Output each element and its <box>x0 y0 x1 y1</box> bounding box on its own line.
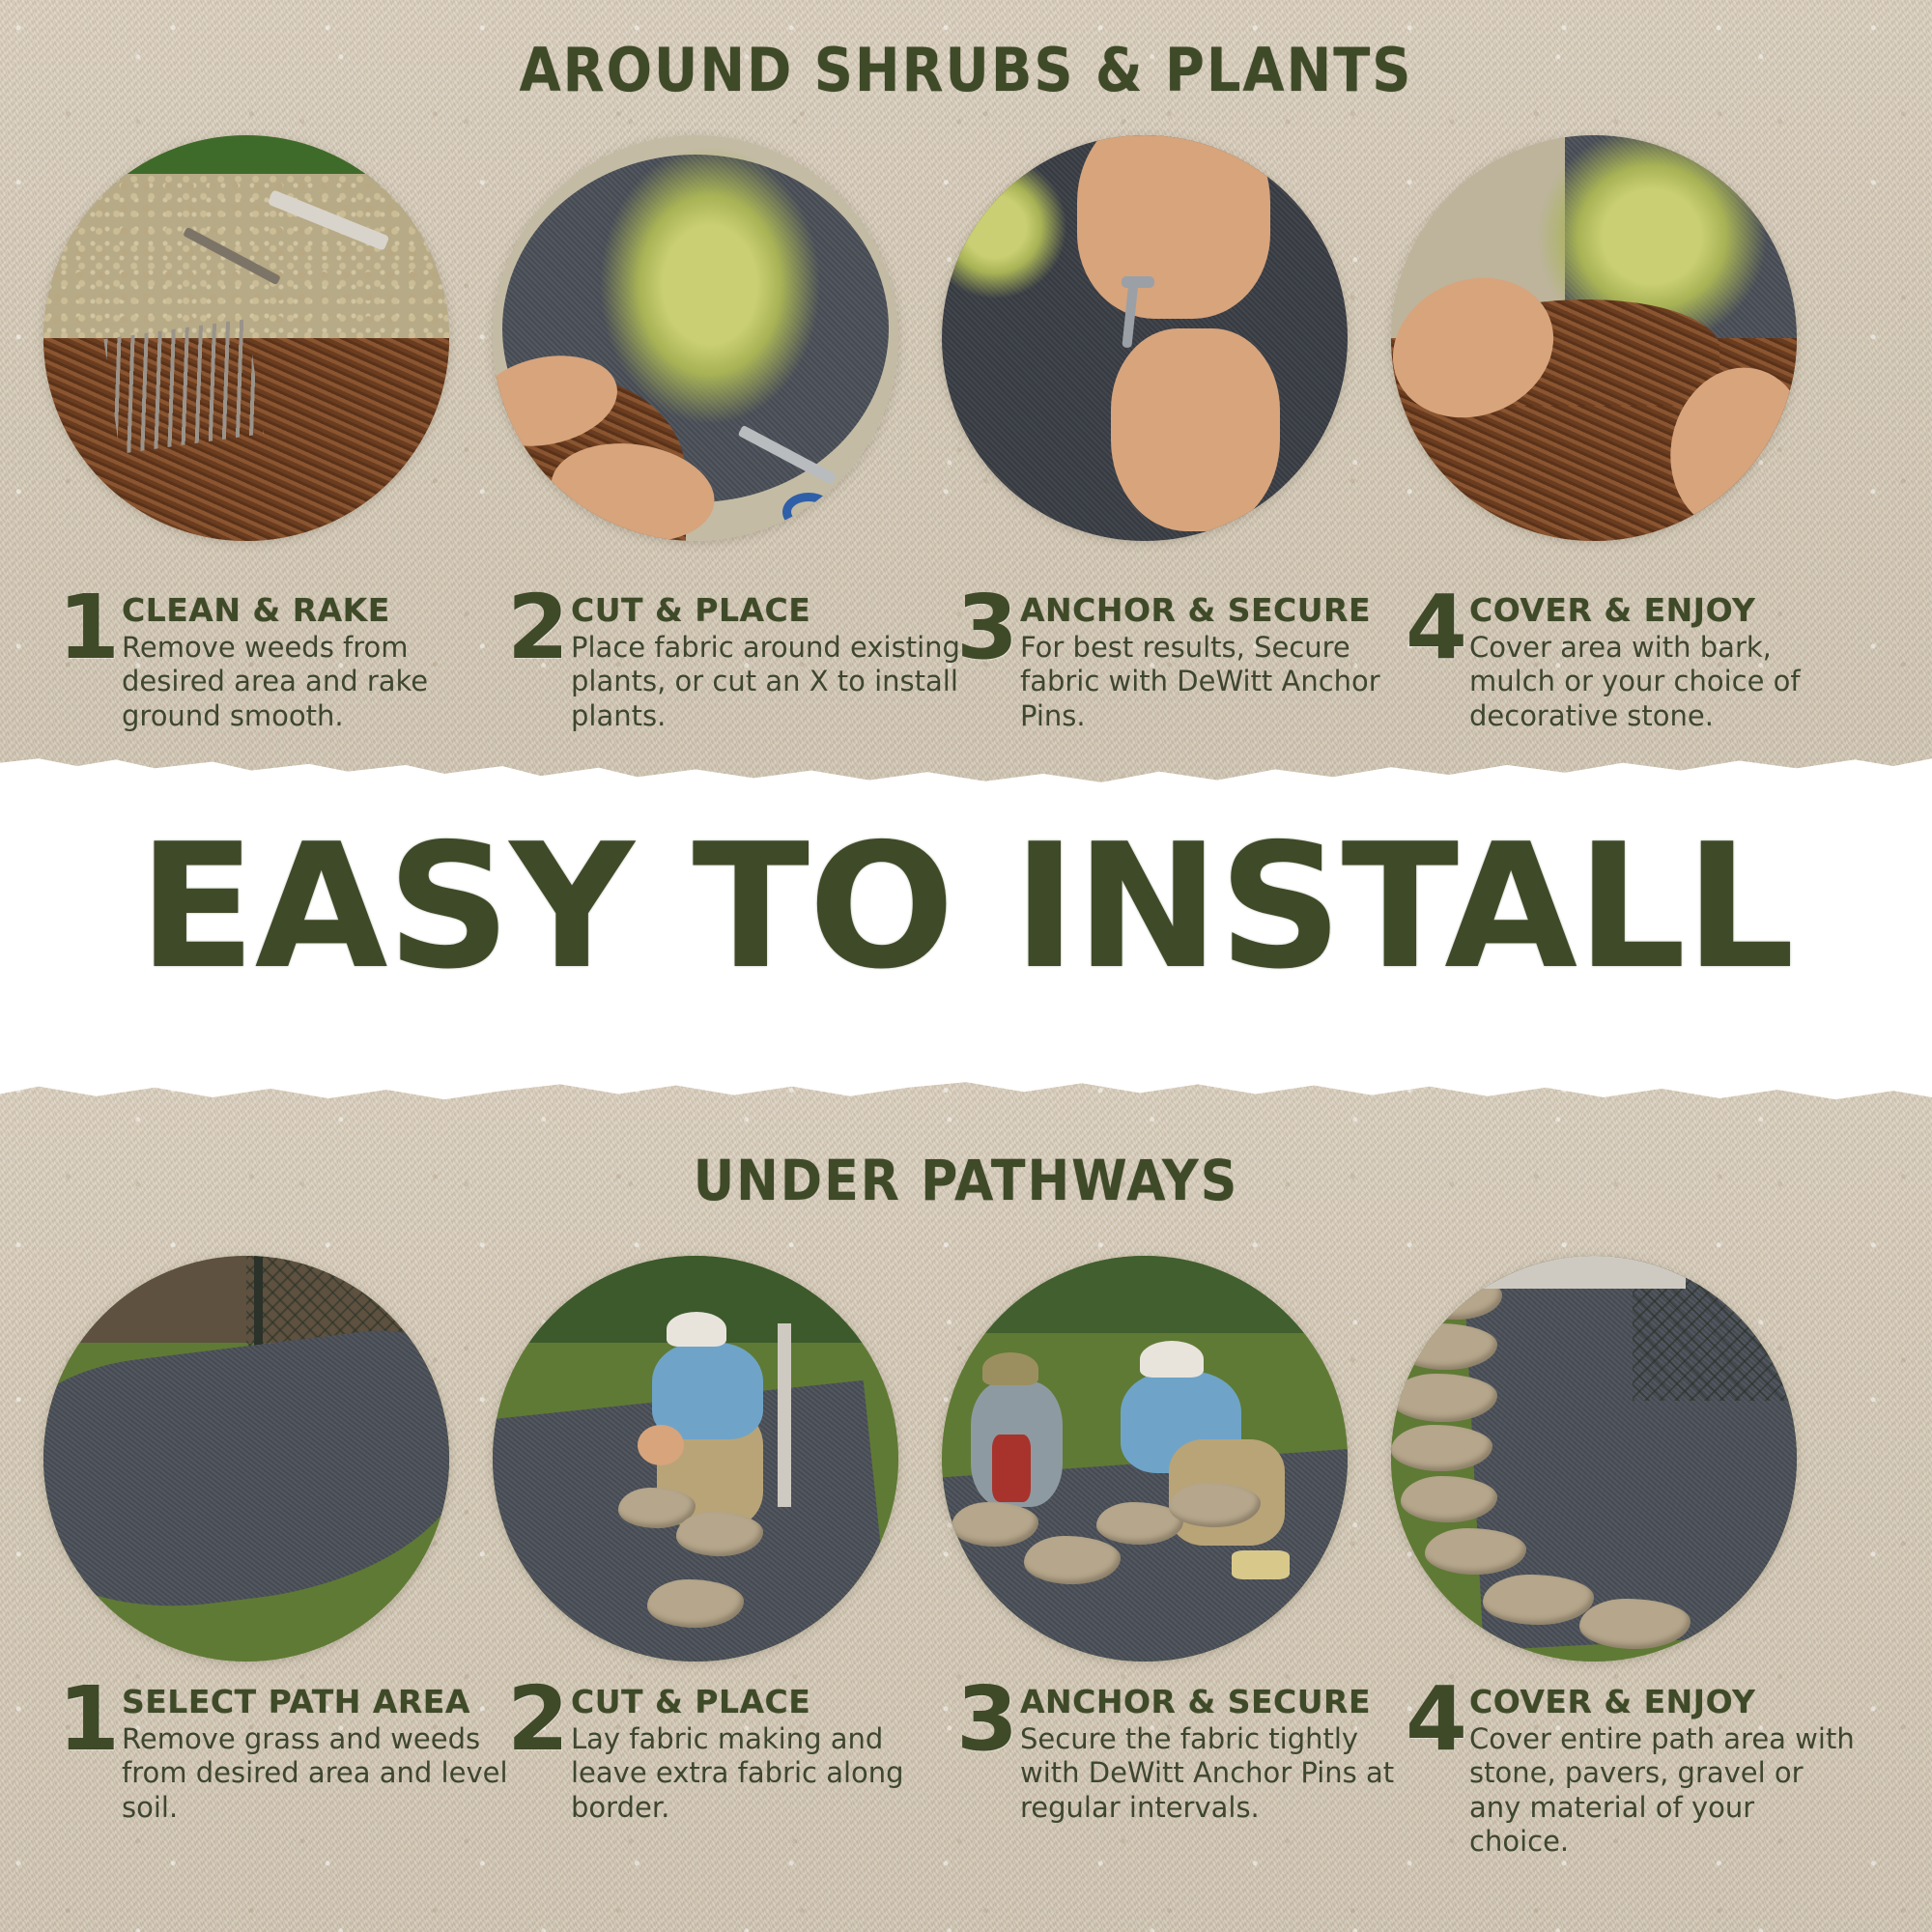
step-title: COVER & ENJOY <box>1469 1683 1860 1720</box>
step-number: 1 <box>58 1675 120 1764</box>
main-headline: EASY TO INSTALL <box>0 821 1932 993</box>
step-text: For best results, Secure fabric with DeW… <box>1020 631 1410 733</box>
step-text: Place fabric around existing plants, or … <box>571 631 961 733</box>
step-title: CUT & PLACE <box>571 591 961 629</box>
step-card: 2 CUT & PLACE Place fabric around existi… <box>507 591 961 733</box>
step-text: Cover area with bark, mulch or your choi… <box>1469 631 1860 733</box>
step-text: Remove grass and weeds from desired area… <box>122 1722 541 1825</box>
torn-paper-edge-bottom-panel <box>0 1063 1932 1117</box>
step-title: ANCHOR & SECURE <box>1020 1683 1410 1720</box>
photo-clean-and-rake <box>43 135 449 541</box>
step-text: Lay fabric making and leave extra fabric… <box>571 1722 961 1825</box>
step-title: CUT & PLACE <box>571 1683 961 1720</box>
step-number: 1 <box>58 583 120 672</box>
step-number: 2 <box>507 583 569 672</box>
step-text: Remove weeds from desired area and rake … <box>122 631 512 733</box>
step-number: 2 <box>507 1675 569 1764</box>
photo-path-cut-and-place <box>493 1256 898 1662</box>
step-text: Cover entire path area with stone, paver… <box>1469 1722 1860 1860</box>
step-number: 3 <box>956 1675 1018 1764</box>
step-card: 4 COVER & ENJOY Cover entire path area w… <box>1406 1683 1860 1860</box>
photo-row-pathways <box>0 1256 1932 1662</box>
step-number: 4 <box>1406 583 1467 672</box>
infographic-page: AROUND SHRUBS & PLANTS <box>0 0 1932 1932</box>
step-title: CLEAN & RAKE <box>122 591 512 629</box>
photo-cover-and-enjoy <box>1391 135 1797 541</box>
photo-cut-and-place <box>493 135 898 541</box>
photo-select-path-area <box>43 1256 449 1662</box>
step-title: SELECT PATH AREA <box>122 1683 541 1720</box>
step-card: 1 CLEAN & RAKE Remove weeds from desired… <box>58 591 512 733</box>
step-number: 3 <box>956 583 1018 672</box>
step-card: 2 CUT & PLACE Lay fabric making and leav… <box>507 1683 961 1825</box>
photo-path-anchor-and-secure <box>942 1256 1348 1662</box>
step-card: 1 SELECT PATH AREA Remove grass and weed… <box>58 1683 541 1825</box>
torn-paper-edge-top-panel <box>0 738 1932 792</box>
photo-row-shrubs <box>0 135 1932 541</box>
section-title-shrubs: AROUND SHRUBS & PLANTS <box>0 35 1932 105</box>
step-card: 4 COVER & ENJOY Cover area with bark, mu… <box>1406 591 1860 733</box>
step-number: 4 <box>1406 1675 1467 1764</box>
step-text: Secure the fabric tightly with DeWitt An… <box>1020 1722 1410 1825</box>
step-card: 3 ANCHOR & SECURE For best results, Secu… <box>956 591 1410 733</box>
step-title: COVER & ENJOY <box>1469 591 1860 629</box>
step-card: 3 ANCHOR & SECURE Secure the fabric tigh… <box>956 1683 1410 1825</box>
photo-anchor-and-secure <box>942 135 1348 541</box>
photo-path-cover-and-enjoy <box>1391 1256 1797 1662</box>
step-title: ANCHOR & SECURE <box>1020 591 1410 629</box>
section-title-pathways: UNDER PATHWAYS <box>0 1148 1932 1213</box>
